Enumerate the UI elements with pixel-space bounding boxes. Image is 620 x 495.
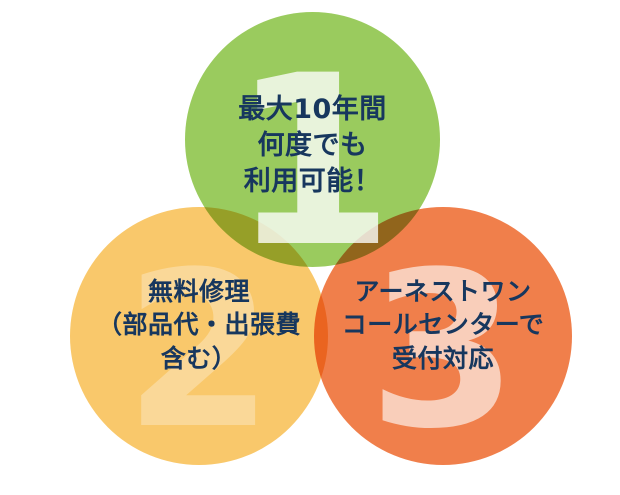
venn-label-green-line-3: 利用可能！ — [185, 164, 440, 200]
venn-label-orange: アーネストワン コールセンターで 受付対応 — [312, 275, 574, 375]
venn-label-orange-line-2: コールセンターで — [312, 308, 574, 341]
venn-circle-layer — [0, 0, 620, 495]
venn-label-green-line-2: 何度でも — [185, 128, 440, 164]
venn-label-yellow-line-1: 無料修理 — [58, 275, 340, 308]
venn-label-yellow: 無料修理 （部品代・出張費 含む） — [58, 275, 340, 375]
venn-label-green: 最大10年間 何度でも 利用可能！ — [185, 92, 440, 200]
venn-label-orange-line-1: アーネストワン — [312, 275, 574, 308]
venn-label-orange-line-3: 受付対応 — [312, 342, 574, 375]
venn-label-green-line-1: 最大10年間 — [185, 92, 440, 128]
venn-label-yellow-line-3: 含む） — [58, 342, 340, 375]
venn-diagram: 1 2 3 最大10年間 何度でも 利用可能！ 無料修理 （部品代・出張費 含む… — [0, 0, 620, 495]
venn-label-yellow-line-2: （部品代・出張費 — [58, 308, 340, 341]
